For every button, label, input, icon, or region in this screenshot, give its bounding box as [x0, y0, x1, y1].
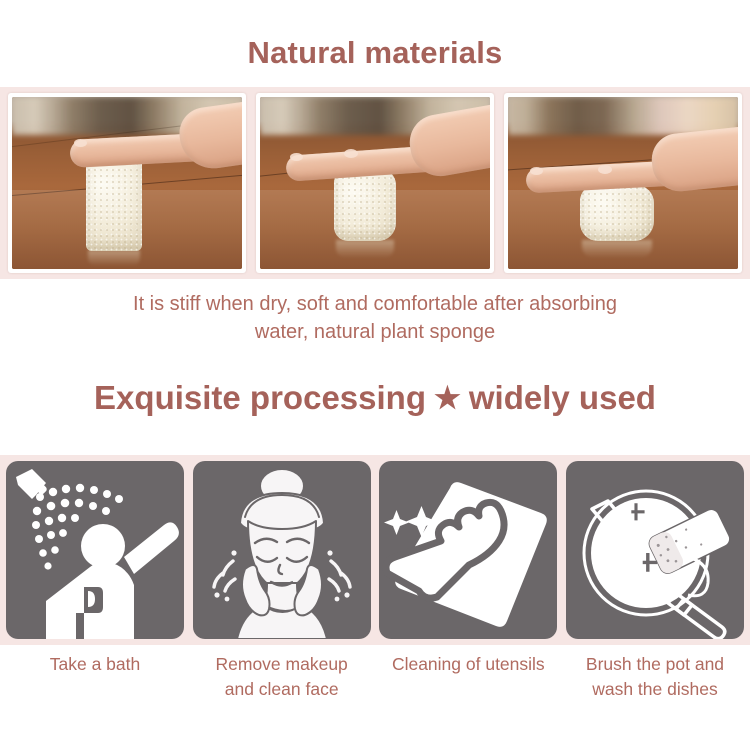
- face-cleansing-icon: [193, 461, 371, 639]
- fingernail-1: [74, 139, 87, 147]
- label-line-2: wash the dishes: [566, 677, 744, 702]
- use-case-label-take-a-bath: Take a bath: [6, 652, 184, 701]
- loofah-sponge-1: [86, 155, 142, 251]
- sponge-reflection-2: [336, 240, 394, 258]
- label-line-1: Remove makeup: [193, 652, 371, 677]
- product-infographic: Natural materials: [0, 0, 750, 750]
- label-line-2: and clean face: [193, 677, 371, 702]
- photo-card-sponge-dry-upright: [8, 93, 246, 273]
- use-case-label-remove-makeup: Remove makeup and clean face: [193, 652, 371, 701]
- use-case-label-brush-the-pot: Brush the pot and wash the dishes: [566, 652, 744, 701]
- fingernail-3: [530, 167, 543, 175]
- loofah-sponge-3: [580, 185, 654, 241]
- use-case-panel-brush-the-pot: [566, 461, 744, 639]
- use-case-label-cleaning-utensils: Cleaning of utensils: [379, 652, 557, 701]
- loofah-sponge-2: [334, 169, 396, 241]
- fingernail-3b: [598, 165, 612, 174]
- sponge-reflection-1: [88, 250, 140, 266]
- shower-icon: [6, 461, 184, 639]
- background-blur-3: [508, 97, 738, 135]
- section-title-right: widely used: [469, 379, 656, 416]
- photo-card-sponge-fully-compressed: [504, 93, 742, 273]
- use-case-labels: Take a bath Remove makeup and clean face…: [0, 652, 750, 701]
- caption-line-1: It is stiff when dry, soft and comfortab…: [0, 290, 750, 318]
- use-case-panel-remove-makeup: [193, 461, 371, 639]
- page-title: Natural materials: [0, 0, 750, 71]
- star-icon: ★: [426, 384, 469, 414]
- section-title: Exquisite processing★widely used: [0, 378, 750, 418]
- label-line-1: Take a bath: [6, 652, 184, 677]
- pan-scrub-icon: [566, 461, 744, 639]
- use-case-panel-take-a-bath: [6, 461, 184, 639]
- sponge-reflection-3: [582, 240, 652, 258]
- use-case-panels: [0, 455, 750, 645]
- section-title-left: Exquisite processing: [94, 379, 426, 416]
- photo-strip: [0, 87, 750, 279]
- photo-image-1: [12, 97, 242, 269]
- photo-card-sponge-partially-compressed: [256, 93, 494, 273]
- wiping-hand-icon: [379, 461, 557, 639]
- label-line-1: Cleaning of utensils: [379, 652, 557, 677]
- photo-strip-caption: It is stiff when dry, soft and comfortab…: [0, 290, 750, 347]
- photo-image-2: [260, 97, 490, 269]
- photo-image-3: [508, 97, 738, 269]
- caption-line-2: water, natural plant sponge: [0, 318, 750, 346]
- fingernail-2b: [344, 149, 358, 158]
- label-line-1: Brush the pot and: [566, 652, 744, 677]
- use-case-panel-cleaning-utensils: [379, 461, 557, 639]
- fingernail-2: [290, 153, 303, 161]
